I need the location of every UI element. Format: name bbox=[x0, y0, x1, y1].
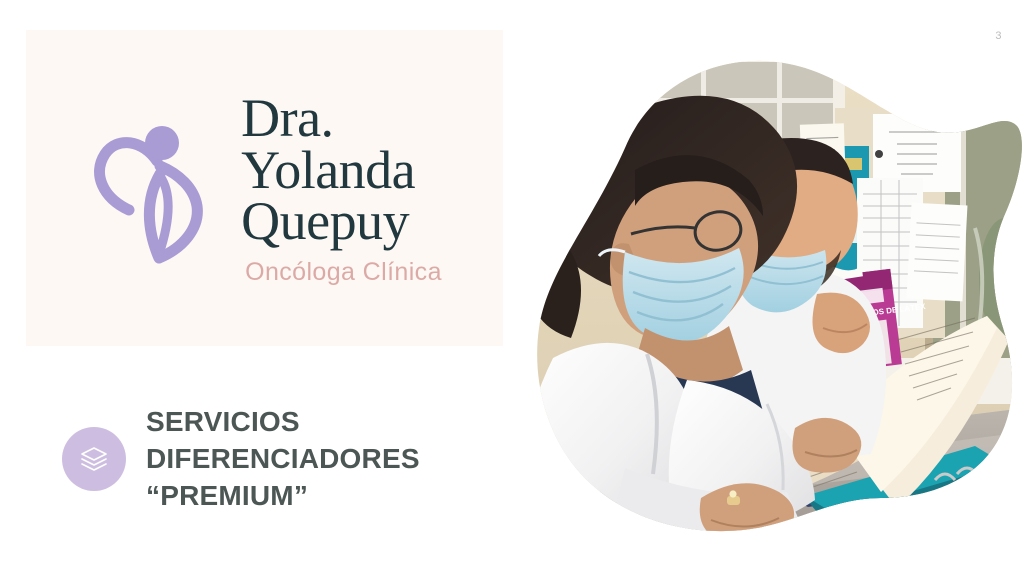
logo-card: Dra. Yolanda Quepuy Oncóloga Clínica bbox=[26, 30, 503, 346]
slide-root: 3 Dra. bbox=[0, 0, 1024, 576]
logo-name-line2: Yolanda bbox=[241, 145, 415, 197]
layers-stack-icon bbox=[62, 427, 126, 491]
logo-name: Dra. Yolanda Quepuy bbox=[241, 93, 415, 248]
section-heading-text: SERVICIOS DIFERENCIADORES “PREMIUM” bbox=[146, 404, 420, 515]
abstract-person-heart-leaf-icon bbox=[87, 114, 225, 264]
clinic-photo-svg: 1 bbox=[505, 28, 1024, 538]
logo-name-line1: Dra. bbox=[241, 93, 415, 145]
logo-name-line3: Quepuy bbox=[241, 196, 415, 248]
logo-inner: Dra. Yolanda Quepuy Oncóloga Clínica bbox=[26, 30, 503, 346]
clinic-photo: 1 bbox=[505, 28, 1024, 538]
logo-head-dot bbox=[145, 126, 179, 160]
section-heading: SERVICIOS DIFERENCIADORES “PREMIUM” bbox=[62, 404, 420, 515]
logo-subtitle: Oncóloga Clínica bbox=[245, 258, 442, 287]
logo-text: Dra. Yolanda Quepuy Oncóloga Clínica bbox=[241, 93, 442, 287]
